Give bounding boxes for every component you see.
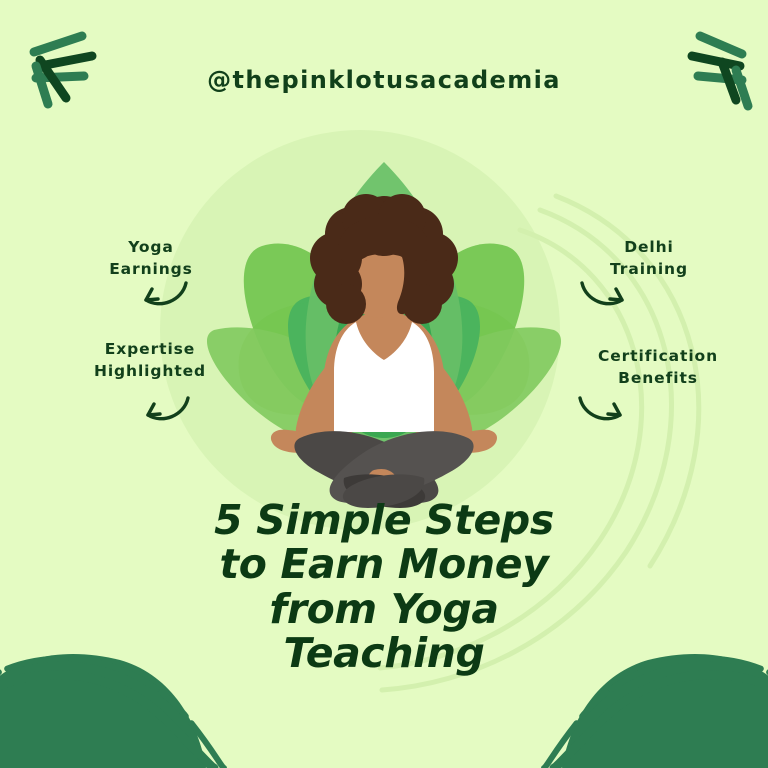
headline-line-3: from Yoga	[0, 587, 768, 631]
label-expertise-highlighted: Expertise Highlighted	[86, 338, 214, 383]
label-delhi-training: Delhi Training	[594, 236, 704, 281]
headline-line-2: to Earn Money	[0, 542, 768, 586]
label-yoga-earnings: Yoga Earnings	[96, 236, 206, 281]
curved-arrow-left-1-head	[146, 289, 158, 300]
account-handle: @thepinklotusacademia	[0, 66, 768, 94]
page-title: 5 Simple Steps to Earn Money from Yoga T…	[0, 498, 768, 675]
poster-canvas: @thepinklotusacademia Yoga Earnings Expe…	[0, 0, 768, 768]
curved-arrow-left-2-head	[148, 404, 160, 415]
curved-arrow-right-2-head	[608, 404, 620, 415]
label-certification-benefits: Certification Benefits	[588, 345, 728, 390]
curved-arrow-right-1-head	[610, 289, 622, 300]
headline-line-4: Teaching	[0, 631, 768, 675]
headline-line-1: 5 Simple Steps	[0, 498, 768, 542]
